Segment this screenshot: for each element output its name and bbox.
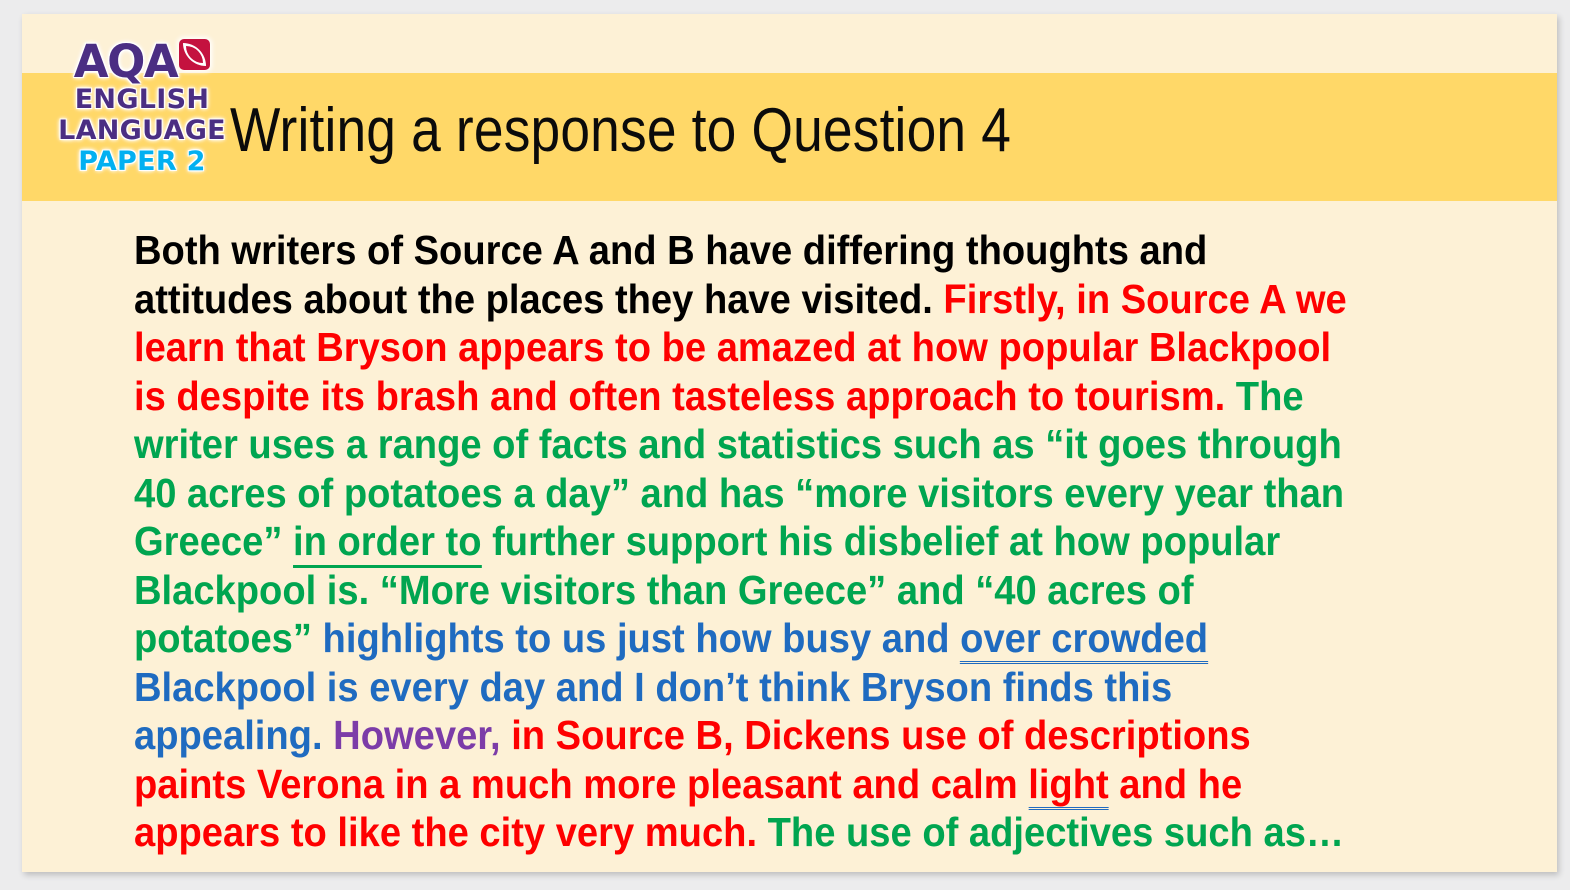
logo-paper-line: PAPER 2: [56, 146, 228, 177]
text-run: However,: [333, 712, 500, 758]
underlined-phrase-in-order-to: in order to: [293, 518, 482, 568]
aqa-wordmark: AQA: [74, 39, 177, 84]
text-run: The use of adjectives such as…: [768, 809, 1344, 855]
aqa-logo-top: AQA: [56, 28, 228, 84]
aqa-logo: AQA ENGLISH LANGUAGE PAPER 2: [56, 28, 228, 177]
logo-subject-line-2: LANGUAGE: [56, 115, 228, 146]
underlined-phrase: light: [1028, 761, 1108, 810]
underlined-phrase: over crowded: [960, 615, 1208, 664]
model-answer-paragraph: Both writers of Source A and B have diff…: [134, 226, 1362, 857]
leaf-inner-shape: [186, 46, 203, 63]
text-run: highlights to us just how busy and: [323, 615, 961, 661]
logo-subject-line: ENGLISH: [56, 84, 228, 115]
aqa-leaf-icon: [179, 39, 210, 70]
page-title: Writing a response to Question 4: [230, 96, 1219, 166]
slide-canvas: AQA ENGLISH LANGUAGE PAPER 2 Writing a r…: [22, 14, 1557, 872]
